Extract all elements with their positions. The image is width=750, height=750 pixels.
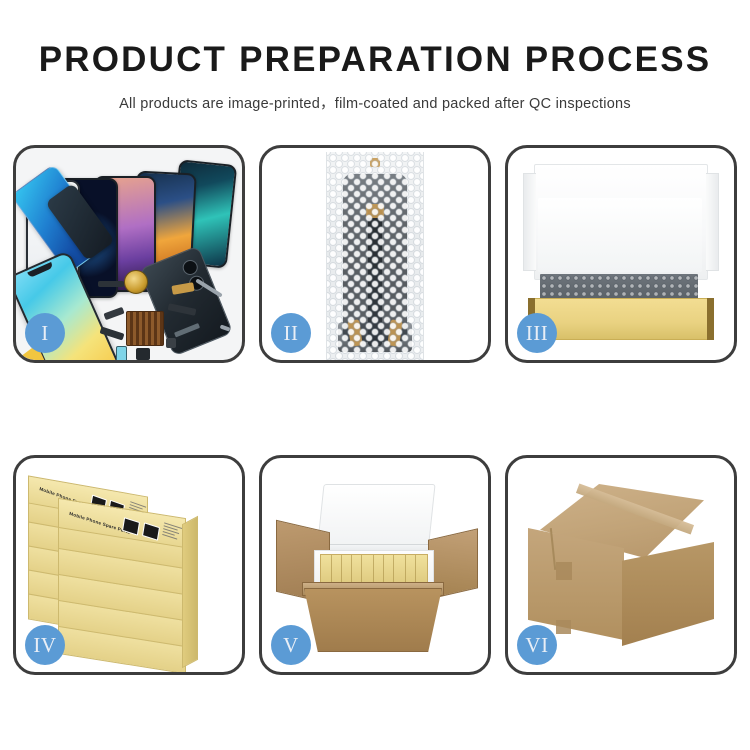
- carton-body-icon: [304, 588, 442, 652]
- step-badge-3: III: [517, 313, 557, 353]
- step-badge-1: I: [25, 313, 65, 353]
- process-step-panel-3[interactable]: III: [505, 145, 737, 363]
- page-title: PRODUCT PREPARATION PROCESS: [0, 42, 750, 77]
- sealed-carton-icon: [526, 484, 716, 646]
- carton-tab-lower-icon: [556, 620, 571, 634]
- step-badge-5: V: [271, 625, 311, 665]
- page-subtitle: All products are image-printed，film-coat…: [0, 92, 750, 113]
- step-badge-4: IV: [25, 625, 65, 665]
- process-step-panel-4[interactable]: Mobile Phone Spare Parts: [13, 455, 245, 675]
- bubble-wrap-bag-icon: [326, 152, 424, 360]
- process-step-panel-6[interactable]: VI: [505, 455, 737, 675]
- chip-icon: [166, 338, 176, 348]
- chip-array-icon: [126, 311, 164, 346]
- bubble-wrapped-contents-icon: [540, 274, 698, 300]
- camera-module-icon: [136, 348, 150, 360]
- process-step-panel-2[interactable]: II: [259, 145, 491, 363]
- box-label-lines-front: [162, 522, 182, 542]
- box-label-thumb-d: [142, 522, 160, 540]
- speaker-coil-icon: [124, 270, 148, 294]
- flex-cable-icon: [98, 281, 124, 287]
- product-preparation-process-page: PRODUCT PREPARATION PROCESS All products…: [0, 0, 750, 750]
- page-header: PRODUCT PREPARATION PROCESS All products…: [0, 0, 750, 113]
- carton-tab-upper-icon: [556, 562, 572, 580]
- flex-cable-3-icon: [103, 307, 124, 320]
- process-step-grid: I II: [13, 145, 737, 675]
- process-step-panel-5[interactable]: V: [259, 455, 491, 675]
- foam-sheet-icon: [538, 198, 702, 272]
- step-badge-2: II: [271, 313, 311, 353]
- carton-side-face: [622, 542, 714, 646]
- small-screen-icon: [116, 346, 127, 360]
- stack-side-face: [182, 516, 198, 669]
- process-step-panel-1[interactable]: I: [13, 145, 245, 363]
- step-badge-6: VI: [517, 625, 557, 665]
- foam-lid-icon: [316, 484, 435, 552]
- bubble-texture-icon: [327, 152, 423, 360]
